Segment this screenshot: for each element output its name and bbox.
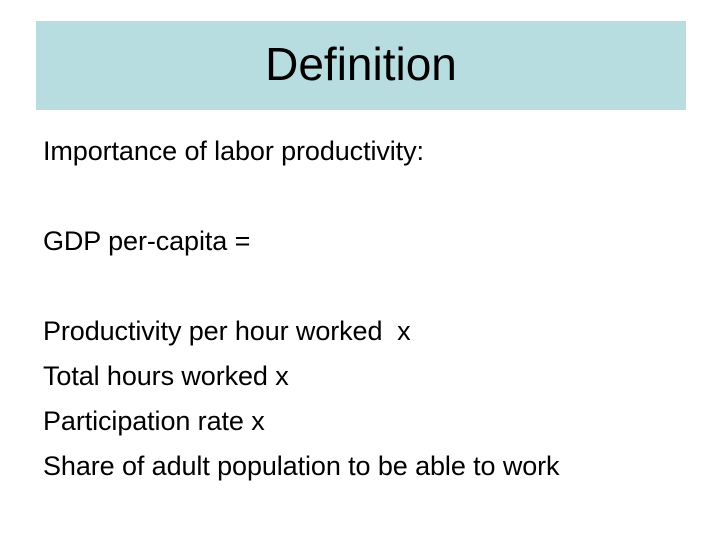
page-title: Definition [265, 41, 457, 87]
body-line-2-spacer [43, 174, 703, 219]
body-line-7: Participation rate x [43, 399, 703, 444]
slide-body: Importance of labor productivity: GDP pe… [43, 129, 703, 489]
body-line-4-spacer [43, 264, 703, 309]
body-line-6: Total hours worked x [43, 354, 703, 399]
body-line-5: Productivity per hour worked x [43, 309, 703, 354]
body-line-8: Share of adult population to be able to … [43, 444, 703, 489]
title-band: Definition [36, 21, 686, 110]
body-line-1: Importance of labor productivity: [43, 129, 703, 174]
slide-canvas: Definition Importance of labor productiv… [0, 0, 720, 540]
body-line-3: GDP per-capita = [43, 219, 703, 264]
